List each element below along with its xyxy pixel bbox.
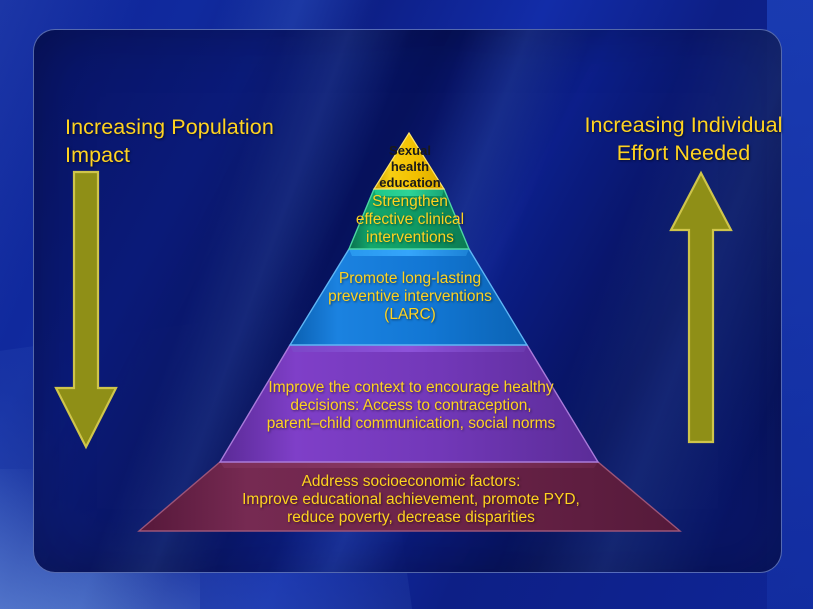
caption-right-line-1: Increasing Individual — [576, 112, 791, 140]
up-arrow-icon — [668, 170, 734, 445]
caption-left-line-2: Impact — [65, 142, 295, 170]
label-increasing-population-impact: Increasing Population Impact — [65, 114, 295, 169]
label-increasing-individual-effort-needed: Increasing Individual Effort Needed — [576, 112, 791, 167]
slide-canvas: Increasing Population Impact Increasing … — [0, 0, 813, 609]
caption-right-line-2: Effort Needed — [576, 140, 791, 168]
caption-left-line-1: Increasing Population — [65, 114, 295, 142]
down-arrow-icon — [53, 170, 119, 450]
